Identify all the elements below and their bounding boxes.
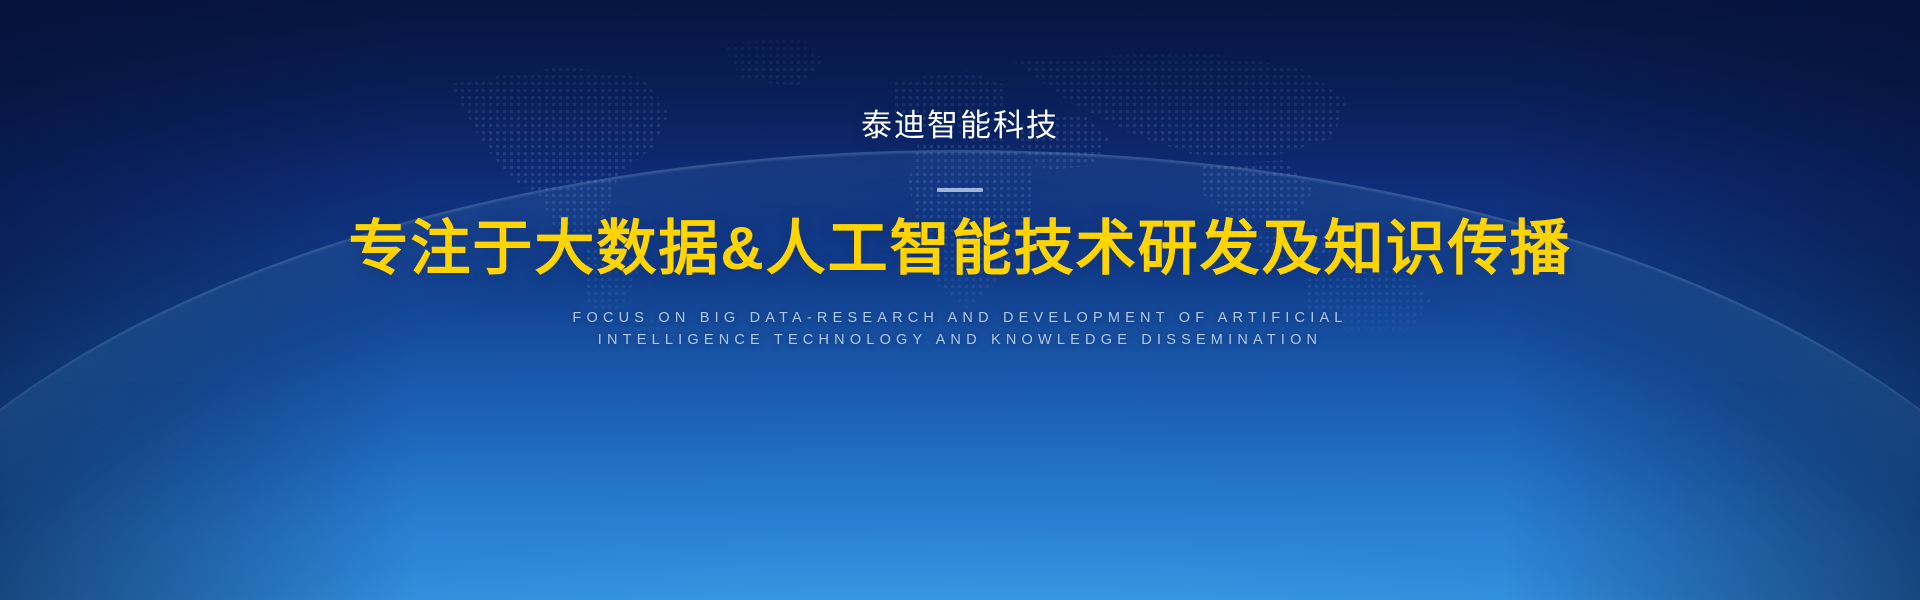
page-title: 专注于大数据&人工智能技术研发及知识传播 xyxy=(0,217,1920,282)
brand-title: 泰迪智能科技 xyxy=(0,110,1920,141)
subtitle-line-1: FOCUS ON BIG DATA-RESEARCH AND DEVELOPME… xyxy=(572,310,1347,326)
subtitle: FOCUS ON BIG DATA-RESEARCH AND DEVELOPME… xyxy=(0,308,1920,352)
hero-banner: 泰迪智能科技 专注于大数据&人工智能技术研发及知识传播 FOCUS ON BIG… xyxy=(0,0,1920,600)
title-divider xyxy=(937,188,983,192)
divider-wrapper xyxy=(0,179,1920,183)
banner-content: 泰迪智能科技 专注于大数据&人工智能技术研发及知识传播 FOCUS ON BIG… xyxy=(0,0,1920,351)
subtitle-line-2: INTELLIGENCE TECHNOLOGY AND KNOWLEDGE DI… xyxy=(0,330,1920,352)
